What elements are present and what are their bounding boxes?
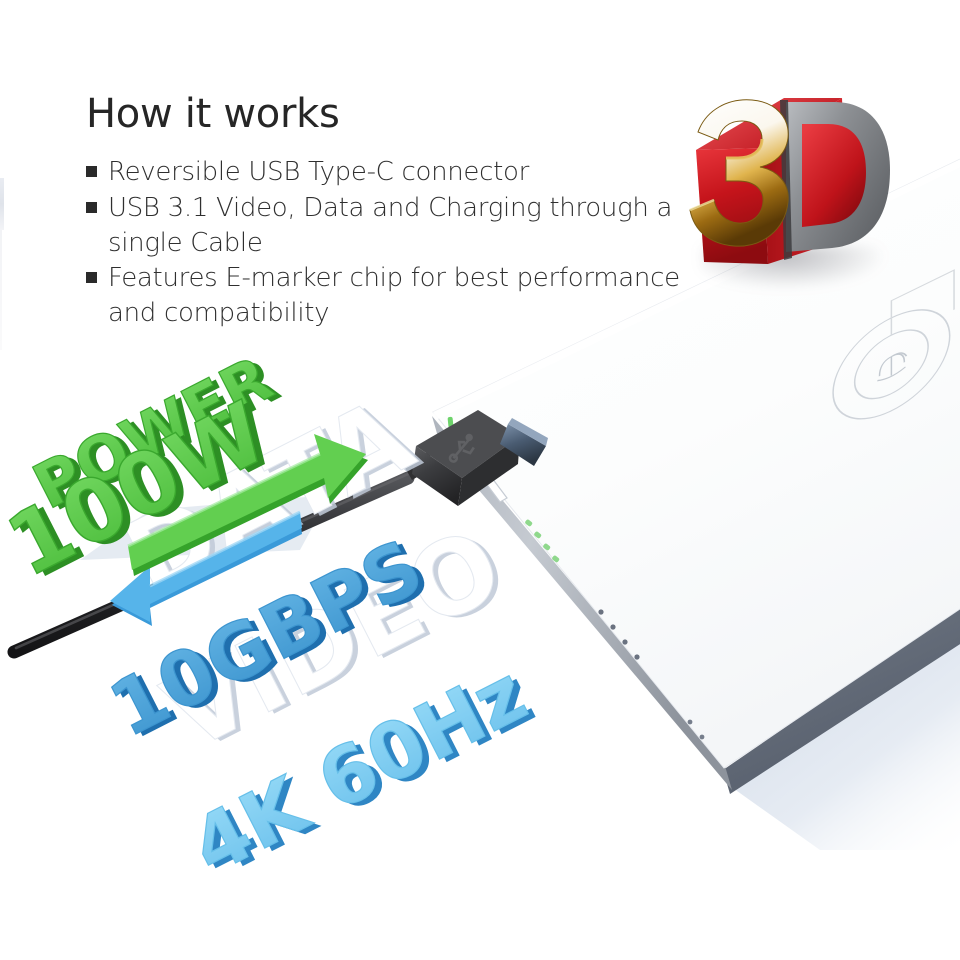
edge-artifact [0,178,4,230]
page-title: How it works [86,93,340,135]
edge-artifact-lower [0,230,2,350]
product-feature-image: How it works Reversible USB Type-C conne… [0,0,960,960]
3d-badge [676,88,896,293]
callout-graphics: DATA DATA VIDEO VIDEO POWE [0,400,600,960]
square-bullet-icon [86,166,97,177]
square-bullet-icon [86,272,97,283]
square-bullet-icon [86,202,97,213]
